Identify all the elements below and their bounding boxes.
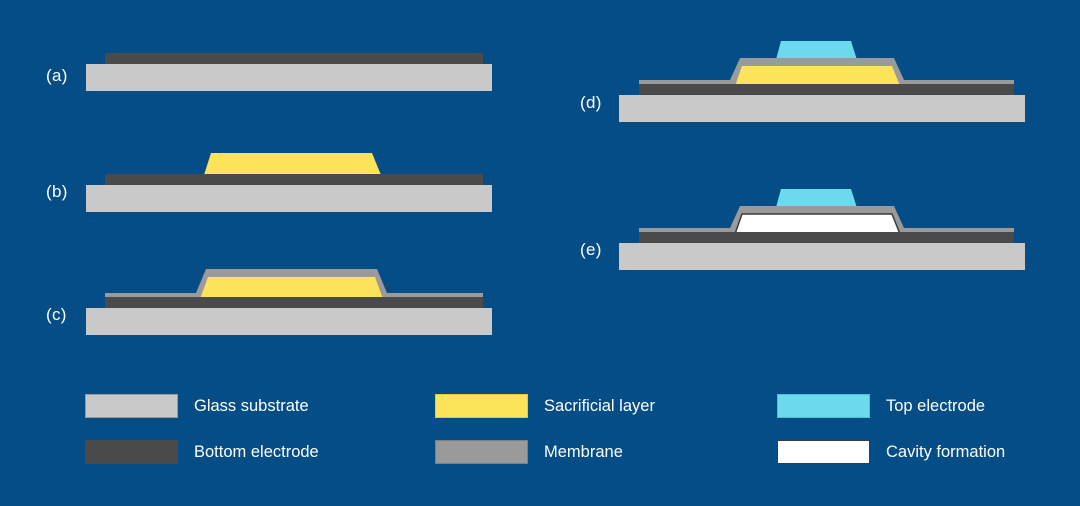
legend-label-top-electrode: Top electrode [886,397,985,416]
panel-b-sacrificial-layer [204,153,381,175]
legend: Glass substrate Bottom electrode Sacrifi… [85,388,1045,478]
legend-item-bottom-electrode: Bottom electrode [85,440,319,464]
legend-item-glass-substrate: Glass substrate [85,394,309,418]
legend-swatch-glass-substrate [85,394,178,418]
panel-label-b: (b) [46,182,68,202]
legend-swatch-sacrificial-layer [435,394,528,418]
panel-e-cavity-formation [735,214,900,234]
panel-c-bottom-electrode [105,297,483,308]
panel-d-sacrificial-layer [735,66,900,86]
panel-a-glass-substrate [86,64,492,91]
legend-item-top-electrode: Top electrode [777,394,985,418]
panel-b-stack [86,153,492,212]
legend-item-cavity-formation: Cavity formation [777,440,1005,464]
legend-item-sacrificial-layer: Sacrificial layer [435,394,655,418]
legend-swatch-top-electrode [777,394,870,418]
panel-e-stack [619,189,1025,270]
panel-d-glass-substrate [619,95,1025,122]
panel-a-bottom-electrode [105,53,483,64]
panel-b-bottom-electrode [105,174,483,185]
legend-label-cavity-formation: Cavity formation [886,443,1005,462]
panel-d-bottom-electrode [639,84,1014,95]
panel-label-e: (e) [580,240,602,260]
panel-e-bottom-electrode [639,232,1014,243]
panel-e-glass-substrate [619,243,1025,270]
panel-c-sacrificial-layer [200,277,383,299]
legend-label-sacrificial-layer: Sacrificial layer [544,397,655,416]
panel-label-c: (c) [46,305,67,325]
legend-label-bottom-electrode: Bottom electrode [194,443,319,462]
legend-swatch-membrane [435,440,528,464]
panel-label-a: (a) [46,66,68,86]
panel-d-stack [619,41,1025,122]
panel-c-stack [86,269,492,335]
legend-item-membrane: Membrane [435,440,623,464]
panel-b-glass-substrate [86,185,492,212]
legend-label-glass-substrate: Glass substrate [194,397,309,416]
legend-label-membrane: Membrane [544,443,623,462]
panel-label-d: (d) [580,93,602,113]
legend-swatch-bottom-electrode [85,440,178,464]
legend-swatch-cavity-formation [777,440,870,464]
panel-a-stack [86,53,492,91]
panel-c-glass-substrate [86,308,492,335]
